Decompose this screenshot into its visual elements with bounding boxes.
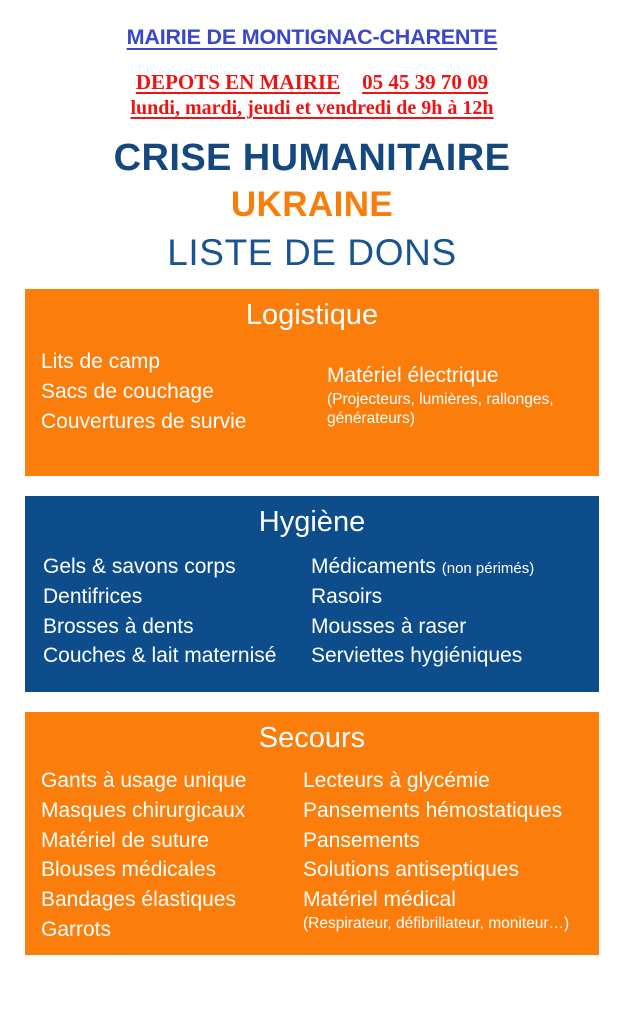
panel-hygiene-column-right: Médicaments (non périmés) Rasoirs Mousse…	[311, 552, 597, 671]
list-item-label: Médicaments	[311, 555, 436, 578]
panel-hygiene-columns: Gels & savons corps Dentifrices Brosses …	[25, 552, 599, 671]
depot-phone-number[interactable]: 05 45 39 70 09	[362, 70, 488, 94]
list-item: Gels & savons corps	[43, 552, 311, 582]
panel-logistique-title: Logistique	[25, 297, 599, 333]
list-item: Matériel électrique	[327, 361, 599, 391]
panel-secours-columns: Gants à usage unique Masques chirurgicau…	[25, 766, 599, 945]
list-item: Bandages élastiques	[41, 885, 303, 915]
panel-logistique-column-right: Matériel électrique (Projecteurs, lumièr…	[313, 343, 599, 428]
list-item: Gants à usage unique	[41, 766, 303, 796]
panel-hygiene-column-left: Gels & savons corps Dentifrices Brosses …	[25, 552, 311, 671]
title-liste-de-dons: LISTE DE DONS	[0, 231, 624, 275]
list-item: Blouses médicales	[41, 855, 303, 885]
list-item: Lecteurs à glycémie	[303, 766, 599, 796]
list-item: Couches & lait maternisé	[43, 641, 311, 671]
donation-category-panels: Logistique Lits de camp Sacs de couchage…	[25, 275, 599, 955]
panel-secours-title: Secours	[25, 720, 599, 756]
panel-secours-column-right: Lecteurs à glycémie Pansements hémostati…	[303, 766, 599, 933]
poster-titles: CRISE HUMANITAIRE UKRAINE LISTE DE DONS	[0, 137, 624, 275]
title-crise-humanitaire: CRISE HUMANITAIRE	[0, 137, 624, 180]
list-item: Serviettes hygiéniques	[311, 641, 597, 671]
list-item-note: (Respirateur, défibrillateur, moniteur…)	[303, 914, 599, 933]
list-item: Pansements	[303, 826, 599, 856]
list-item-note: (Projecteurs, lumières, rallonges, génér…	[327, 390, 599, 428]
panel-logistique: Logistique Lits de camp Sacs de couchage…	[25, 289, 599, 476]
list-item: Matériel médical	[303, 885, 599, 915]
panel-hygiene-title: Hygiène	[25, 504, 599, 540]
depot-line-primary: DEPOTS EN MAIRIE05 45 39 70 09	[0, 69, 624, 95]
panel-secours-column-left: Gants à usage unique Masques chirurgicau…	[25, 766, 303, 945]
panel-hygiene: Hygiène Gels & savons corps Dentifrices …	[25, 496, 599, 692]
list-item: Dentifrices	[43, 582, 311, 612]
depot-label: DEPOTS EN MAIRIE	[136, 70, 340, 94]
panel-secours: Secours Gants à usage unique Masques chi…	[25, 712, 599, 955]
depot-info: DEPOTS EN MAIRIE05 45 39 70 09 lundi, ma…	[0, 69, 624, 122]
depot-opening-hours: lundi, mardi, jeudi et vendredi de 9h à …	[130, 96, 493, 121]
poster-header: MAIRIE DE MONTIGNAC-CHARENTE DEPOTS EN M…	[0, 0, 624, 121]
list-item: Lits de camp	[41, 347, 313, 377]
list-item: Mousses à raser	[311, 612, 597, 642]
mairie-title: MAIRIE DE MONTIGNAC-CHARENTE	[127, 26, 498, 50]
title-ukraine: UKRAINE	[0, 184, 624, 225]
list-item: Rasoirs	[311, 582, 597, 612]
list-item: Matériel de suture	[41, 826, 303, 856]
list-item: Couvertures de survie	[41, 407, 313, 437]
panel-logistique-columns: Lits de camp Sacs de couchage Couverture…	[25, 343, 599, 436]
list-item: Brosses à dents	[43, 612, 311, 642]
list-item: Pansements hémostatiques	[303, 796, 599, 826]
list-item: Masques chirurgicaux	[41, 796, 303, 826]
panel-logistique-column-left: Lits de camp Sacs de couchage Couverture…	[25, 343, 313, 436]
list-item: Solutions antiseptiques	[303, 855, 599, 885]
list-item: Médicaments (non périmés)	[311, 552, 597, 582]
list-item: Sacs de couchage	[41, 377, 313, 407]
list-item: Garrots	[41, 915, 303, 945]
list-item-note: (non périmés)	[442, 560, 535, 577]
